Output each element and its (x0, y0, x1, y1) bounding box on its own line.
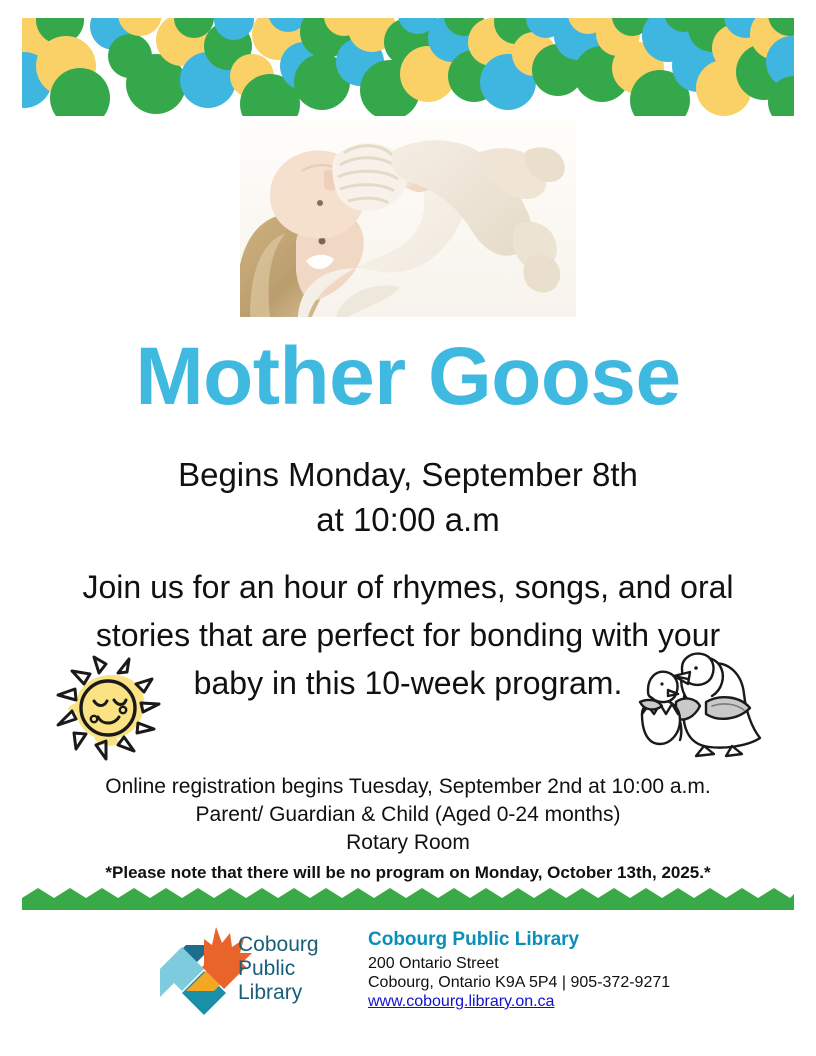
cobourg-public-library-logo: Cobourg Public Library (152, 923, 332, 1015)
begins-time-line: at 10:00 a.m (0, 497, 816, 542)
logo-text-line2: Public (238, 957, 295, 980)
footer-org-name: Cobourg Public Library (368, 928, 768, 952)
begins-date-line: Begins Monday, September 8th (0, 452, 816, 497)
confetti-dots-border (22, 18, 794, 116)
mother-lifting-baby-photo (240, 121, 576, 317)
registration-details: Online registration begins Tuesday, Sept… (0, 773, 816, 857)
footer-website-link[interactable]: www.cobourg.library.on.ca (368, 992, 554, 1011)
logo-text-line1: Cobourg (238, 933, 319, 956)
footer-contact-block: Cobourg Public Library 200 Ontario Stree… (368, 928, 768, 1011)
registration-line: Online registration begins Tuesday, Sept… (0, 773, 816, 801)
location-line: Rotary Room (0, 829, 816, 857)
logo-text-line3: Library (238, 981, 303, 1004)
audience-line: Parent/ Guardian & Child (Aged 0-24 mont… (0, 801, 816, 829)
program-exception-note: *Please note that there will be no progr… (0, 862, 816, 884)
footer-address-line-1: 200 Ontario Street (368, 954, 768, 973)
poster-canvas: Mother Goose Begins Monday, September 8t… (0, 0, 816, 1056)
page-title: Mother Goose (0, 333, 816, 421)
goose-with-chick-icon (638, 646, 766, 761)
program-start-block: Begins Monday, September 8th at 10:00 a.… (0, 452, 816, 542)
green-zigzag-border (22, 888, 794, 910)
footer-address-line-2: Cobourg, Ontario K9A 5P4 | 905-372-9271 (368, 973, 768, 992)
smiling-sun-icon (46, 651, 172, 766)
